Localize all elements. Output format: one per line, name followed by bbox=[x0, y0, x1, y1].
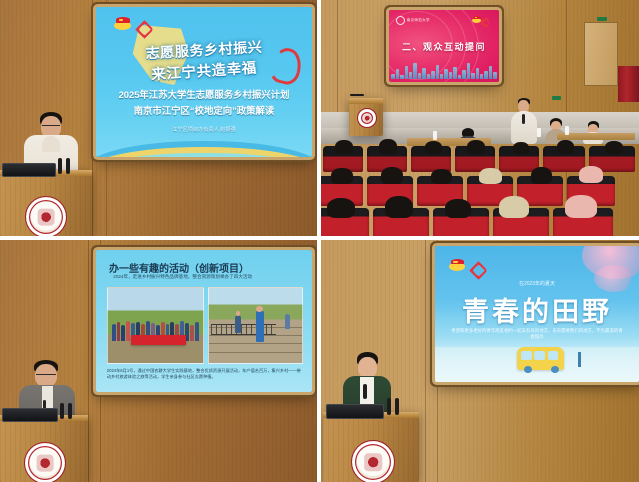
university-emblem-icon bbox=[25, 196, 67, 236]
stage-curtain bbox=[618, 66, 639, 102]
podium-monitor-3 bbox=[2, 408, 58, 422]
podium-4 bbox=[323, 412, 419, 482]
slide-title-3: 办一些有趣的活动（创新项目） bbox=[109, 260, 249, 275]
microphone-2 bbox=[66, 158, 70, 174]
slide-photo-group bbox=[107, 287, 204, 364]
slide-title-blue: 志愿服务乡村振兴 来江宁共造幸福 2025年江苏大学生志愿服务乡村振兴计划 南京… bbox=[96, 7, 312, 157]
slide-subtitle-3: 2024年，走进乡村振兴特色品牌基地，整合资源策划举办了四大活动 bbox=[113, 274, 252, 280]
auditorium-door[interactable] bbox=[584, 22, 618, 86]
panel-bottom-left: 办一些有趣的活动（创新项目） 2024年，走进乡村振兴特色品牌基地，整合资源策划… bbox=[0, 240, 317, 482]
microphone-6 bbox=[387, 398, 391, 415]
microphone-4 bbox=[60, 403, 64, 419]
slide-photo-fieldwork bbox=[208, 287, 303, 364]
projection-screen-4: 在2023年的夏天 青春的田野 希望和更多更好的青年朋友相约一起去有风的地方，去… bbox=[435, 246, 639, 382]
university-emblem-icon bbox=[351, 440, 395, 482]
university-emblem-icon bbox=[24, 442, 66, 482]
water-bottle-2 bbox=[537, 128, 541, 137]
panel-top-right: 南京师范大学 二、观众互动提问 bbox=[321, 0, 639, 236]
water-bottle-3 bbox=[565, 126, 569, 135]
microphone-3 bbox=[350, 94, 364, 96]
slide-title-4: 青春的田野 bbox=[435, 290, 639, 329]
podium-2 bbox=[349, 98, 383, 136]
slide-closing-sky: 在2023年的夏天 青春的田野 希望和更多更好的青年朋友相约一起去有风的地方，去… bbox=[435, 246, 639, 382]
projection-screen-2: 南京师范大学 二、观众互动提问 bbox=[389, 10, 499, 82]
projection-screen-3: 办一些有趣的活动（创新项目） 2024年，走进乡村振兴特色品牌基地，整合资源策划… bbox=[96, 250, 312, 392]
podium-1 bbox=[0, 170, 92, 236]
red-cap-icon bbox=[114, 21, 131, 30]
red-banner bbox=[131, 335, 186, 345]
photo-collage: 志愿服务乡村振兴 来江宁共造幸福 2025年江苏大学生志愿服务乡村振兴计划 南京… bbox=[0, 0, 639, 482]
podium-monitor-4 bbox=[326, 404, 384, 419]
slide-content-lightblue: 办一些有趣的活动（创新项目） 2024年，走进乡村振兴特色品牌基地，整合资源策划… bbox=[96, 250, 312, 392]
university-logo-icon: 南京师范大学 bbox=[396, 16, 430, 25]
field-worker bbox=[256, 310, 264, 342]
slide-subtitle-4: 希望和更多更好的青年朋友相约一起去有风的地方，去有需要我们的地方，不负最美的青春… bbox=[451, 328, 622, 340]
slide-main-line-1: 2025年江苏大学生志愿服务乡村振兴计划 bbox=[105, 88, 304, 102]
panel-bottom-right: 在2023年的夏天 青春的田野 希望和更多更好的青年朋友相约一起去有风的地方，去… bbox=[321, 240, 639, 482]
university-logo-text: 南京师范大学 bbox=[407, 18, 430, 23]
microphone-1 bbox=[58, 158, 62, 174]
standing-figure-icon bbox=[578, 352, 581, 367]
university-emblem-icon bbox=[357, 108, 377, 128]
microphone-5 bbox=[68, 403, 72, 419]
slide-kicker: 在2023年的夏天 bbox=[435, 280, 639, 287]
exit-sign-icon-2 bbox=[552, 96, 561, 100]
stage-speaker bbox=[511, 98, 537, 144]
red-cap-icon bbox=[449, 262, 465, 271]
slide-heading: 二、观众互动提问 bbox=[389, 40, 499, 53]
podium-monitor-1 bbox=[2, 163, 56, 177]
slide-main-line-2: 南京市江宁区“校地定向”政策解读 bbox=[105, 104, 304, 118]
exit-sign-icon bbox=[597, 17, 607, 21]
panel-top-left: 志愿服务乡村振兴 来江宁共造幸福 2025年江苏大学生志愿服务乡村振兴计划 南京… bbox=[0, 0, 317, 236]
podium-3 bbox=[0, 415, 88, 482]
heart-outline-icon bbox=[469, 261, 487, 279]
slide-footnote-3: 2024年8月1号，通过中国农耕大学生实践基地，整合优质资源开展活动，年产值名百… bbox=[107, 368, 301, 381]
slide-presenter-line: 江宁区项目办负责人 赵振强 bbox=[96, 126, 312, 133]
microphone-7 bbox=[395, 398, 399, 415]
projection-screen-1: 志愿服务乡村振兴 来江宁共造幸福 2025年江苏大学生志愿服务乡村振兴计划 南京… bbox=[96, 7, 312, 157]
slide-section-pink: 南京师范大学 二、观众互动提问 bbox=[389, 10, 499, 82]
water-bottle-1 bbox=[433, 131, 437, 140]
skyline-decor bbox=[391, 60, 497, 79]
heart-outline-icon bbox=[481, 17, 491, 27]
